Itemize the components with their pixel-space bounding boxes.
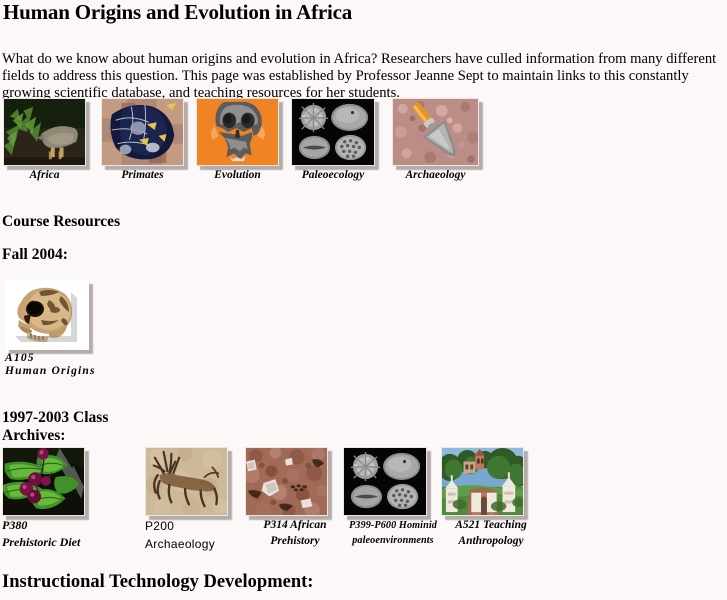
archive-name-p399-p600[interactable]: paleoenvironments [343, 535, 443, 547]
page-title: Human Origins and Evolution in Africa [3, 0, 352, 24]
archive-code-a521[interactable]: A521 Teaching [441, 519, 541, 532]
archive-code-p200[interactable]: P200 [145, 519, 255, 534]
archive-code-p399-p600[interactable]: P399-P600 Hominid [343, 520, 443, 532]
archive-item-p399-p600[interactable]: P399-P600 Hominid paleoenvironments [343, 447, 443, 547]
nav-item-archaeology[interactable]: Archaeology [392, 98, 484, 182]
nav-item-primates[interactable]: Primates [101, 98, 189, 182]
archive-code-p380[interactable]: P380 [2, 518, 122, 532]
archive-code-p314[interactable]: P314 African [245, 519, 345, 532]
a521-thumbnail-frame [441, 447, 524, 516]
archive-name-a521[interactable]: Anthropology [441, 535, 541, 548]
paleoecology-thumbnail-frame [291, 98, 375, 166]
nav-label-africa[interactable]: Africa [3, 169, 86, 182]
africa-landscape-thumbnail[interactable] [3, 98, 86, 166]
intro-paragraph: What do we know about human origins and … [2, 51, 726, 103]
nav-item-africa[interactable]: Africa [3, 98, 91, 182]
berries-leaves-thumbnail[interactable] [2, 447, 85, 516]
evolution-thumbnail-frame [196, 98, 279, 166]
nav-label-archaeology[interactable]: Archaeology [392, 169, 479, 182]
primates-thumbnail[interactable] [101, 98, 184, 166]
p399-thumbnail-frame [343, 447, 427, 516]
heading-fall-2004: Fall 2004: [2, 246, 68, 264]
nav-label-primates[interactable]: Primates [101, 169, 184, 182]
archive-name-p380[interactable]: Prehistoric Diet [2, 535, 122, 549]
archive-name-p314[interactable]: Prehistory [245, 535, 345, 548]
p200-thumbnail-frame [145, 447, 228, 516]
nav-label-paleoecology[interactable]: Paleoecology [291, 169, 375, 182]
trowel-thumbnail[interactable] [392, 98, 479, 166]
archaeology-thumbnail-frame [392, 98, 479, 166]
heading-class-archives: 1997-2003 Class Archives: [2, 409, 132, 445]
archive-item-p380[interactable]: P380 Prehistoric Diet [2, 447, 122, 549]
archive-item-p314[interactable]: P314 African Prehistory [245, 447, 355, 548]
heading-course-resources: Course Resources [2, 213, 120, 231]
course-name-a105[interactable]: Human Origins [5, 365, 110, 378]
cave-painting-thumbnail[interactable] [145, 447, 228, 516]
pollen-grains-thumbnail[interactable] [291, 98, 375, 166]
africa-thumbnail-frame [3, 98, 86, 166]
archive-name-p200[interactable]: Archaeology [145, 537, 255, 552]
hominid-skull-orange-thumbnail[interactable] [196, 98, 279, 166]
pollen-grains-thumbnail[interactable] [343, 447, 427, 516]
nav-item-paleoecology[interactable]: Paleoecology [291, 98, 379, 182]
archive-item-p200[interactable]: P200 Archaeology [145, 447, 255, 551]
campus-gates-thumbnail[interactable] [441, 447, 524, 516]
page-root: Human Origins and Evolution in Africa Wh… [0, 0, 727, 600]
archive-item-a521[interactable]: A521 Teaching Anthropology [441, 447, 541, 548]
african-rocks-thumbnail[interactable] [245, 447, 328, 516]
hominid-skull-thumbnail[interactable] [5, 280, 89, 350]
nav-item-evolution[interactable]: Evolution [196, 98, 284, 182]
p314-thumbnail-frame [245, 447, 328, 516]
course-item-a105[interactable]: A105 Human Origins [5, 280, 110, 378]
heading-instructional-technology: Instructional Technology Development: [2, 571, 313, 593]
primates-thumbnail-frame [101, 98, 184, 166]
nav-label-evolution[interactable]: Evolution [196, 169, 279, 182]
a105-thumbnail-frame [5, 280, 89, 350]
p380-thumbnail-frame [2, 447, 85, 516]
